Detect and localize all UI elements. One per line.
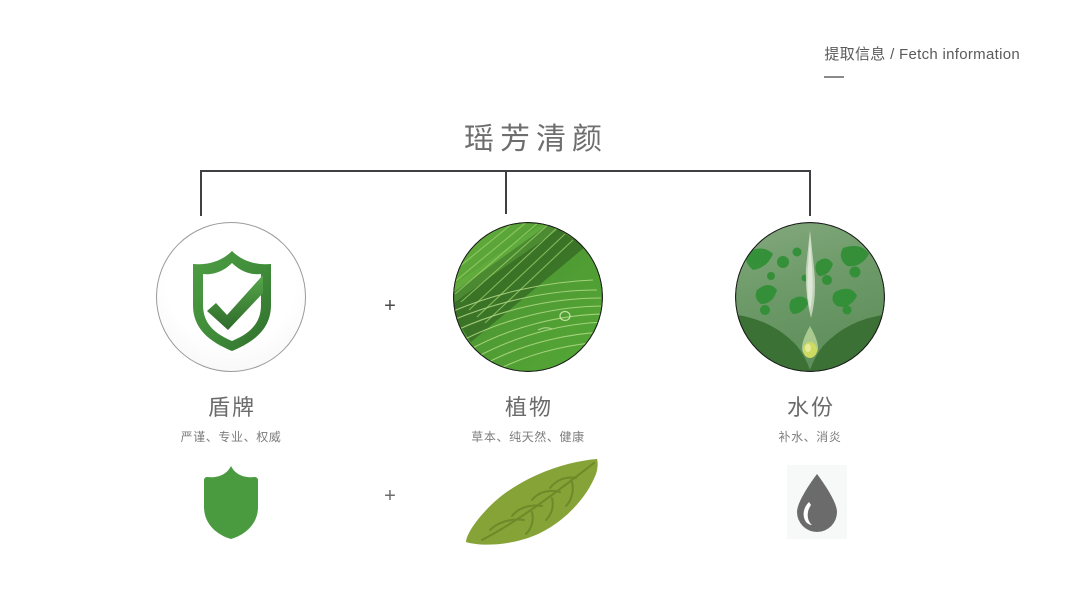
bottom-icon-slot-shield[interactable] [131,452,331,552]
feature-column-plant[interactable]: 植物 草本、纯天然、健康 [398,222,658,445]
feature-column-shield[interactable]: 盾牌 严谨、专业、权威 [101,222,361,445]
feature-label-plant: 植物 [398,396,658,420]
header-title: 提取信息 / Fetch information [824,46,1020,64]
leaf-icon [464,456,604,548]
feature-column-water[interactable]: 水份 补水、消炎 [680,222,940,445]
shield-check-photo-icon [156,222,306,372]
feature-label-shield: 盾牌 [101,396,361,420]
feature-sublabel-shield: 严谨、专业、权威 [101,430,361,444]
bracket-branch-right [809,170,811,216]
leaf-photo-icon [453,222,603,372]
bottom-icon-slot-water[interactable] [717,452,917,552]
water-drop-backdrop [787,465,847,539]
bottom-icon-row [0,452,1066,552]
feature-label-water: 水份 [680,396,940,420]
feature-sublabel-water: 补水、消炎 [680,430,940,444]
bracket-branch-center [505,170,507,214]
page-title: 瑶芳清颜 [0,114,1066,158]
water-drop-icon [793,472,841,532]
header-divider-icon [824,76,844,78]
header: 提取信息 / Fetch information [824,46,1020,78]
bracket-branch-left [200,170,202,216]
shield-icon [199,462,263,542]
bracket-connector [200,170,811,216]
water-drop-leaf-photo-icon [735,222,885,372]
bottom-icon-slot-leaf[interactable] [434,452,634,552]
feature-sublabel-plant: 草本、纯天然、健康 [398,430,658,444]
